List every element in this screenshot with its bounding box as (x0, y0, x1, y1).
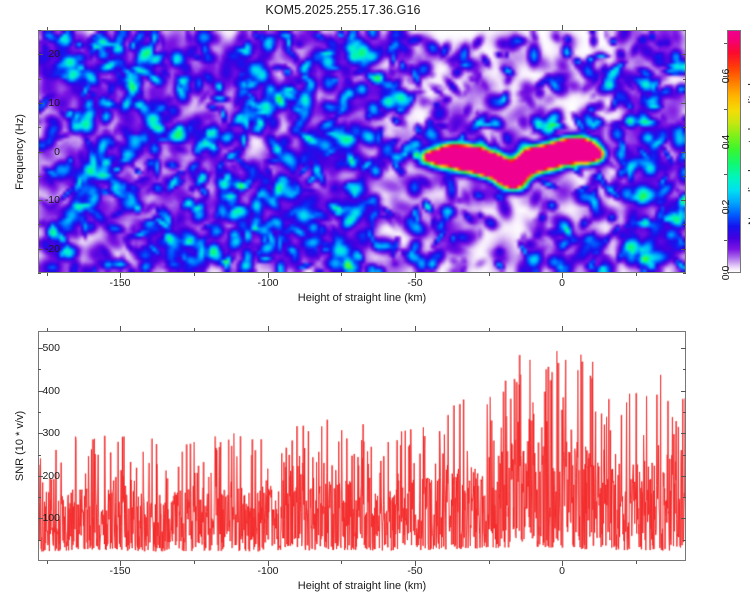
colorbar-tick-minor (724, 43, 727, 44)
spectrogram-image (39, 31, 685, 272)
y-tick-minor-right (683, 369, 686, 370)
spectrogram-plot-area (38, 30, 686, 273)
x-tick-minor-top (47, 328, 48, 331)
x-tick-label: 0 (559, 565, 565, 577)
y-tick-label: 20 (30, 48, 60, 60)
y-tick-right (681, 433, 686, 434)
spectrogram-y-axis-title: Frequency (Hz) (14, 114, 26, 190)
x-tick-minor-top (489, 328, 490, 331)
y-tick-minor-right (683, 176, 686, 177)
colorbar-tick-label: 0.2 (720, 200, 732, 215)
y-tick-minor (38, 455, 41, 456)
y-tick-right (681, 152, 686, 153)
x-tick-minor (489, 273, 490, 276)
y-tick-minor (38, 412, 41, 413)
x-tick-minor-top (636, 328, 637, 331)
x-tick-minor (341, 561, 342, 564)
x-tick-minor (636, 561, 637, 564)
x-tick-minor (636, 273, 637, 276)
y-tick-minor-right (683, 224, 686, 225)
y-tick-minor (38, 369, 41, 370)
y-tick-minor-right (683, 30, 686, 31)
x-tick-label: -150 (109, 277, 130, 289)
y-tick-right (681, 249, 686, 250)
y-tick-right (681, 103, 686, 104)
y-tick-right (681, 476, 686, 477)
x-tick-minor-top (636, 27, 637, 30)
x-tick-minor (47, 273, 48, 276)
y-tick-minor-right (683, 79, 686, 80)
x-tick-minor (47, 561, 48, 564)
x-tick-label: -100 (257, 277, 278, 289)
x-tick-top (415, 25, 416, 30)
x-tick-label: -50 (407, 565, 422, 577)
figure-canvas: KOM5.2025.255.17.36.G16 -150-100-500-20-… (0, 0, 750, 600)
y-tick-right (681, 518, 686, 519)
snr-trace (39, 332, 685, 560)
y-tick-right (681, 54, 686, 55)
y-tick-label: -10 (30, 194, 60, 206)
x-tick-label: -50 (407, 277, 422, 289)
y-tick-label: 500 (30, 342, 60, 354)
snr-plot-area (38, 331, 686, 561)
x-tick-top (120, 326, 121, 331)
y-tick-minor-right (683, 273, 686, 274)
y-tick-minor-right (683, 127, 686, 128)
y-tick-minor (38, 224, 41, 225)
colorbar-tick-label: 0.0 (720, 266, 732, 281)
x-tick-label: -100 (257, 565, 278, 577)
colorbar-gradient (727, 30, 741, 273)
y-tick-label: -20 (30, 243, 60, 255)
x-tick-minor-top (341, 328, 342, 331)
y-tick-label: 100 (30, 512, 60, 524)
colorbar-tick-minor (724, 240, 727, 241)
x-tick-top (562, 25, 563, 30)
x-tick-top (562, 326, 563, 331)
y-tick-minor (38, 273, 41, 274)
spectrogram-x-axis-title: Height of straight line (km) (298, 292, 426, 304)
y-tick-right (681, 348, 686, 349)
y-tick-label: 0 (30, 146, 60, 158)
colorbar-tick-label: 0.4 (720, 135, 732, 150)
colorbar-tick-label: 0.6 (720, 69, 732, 84)
y-tick-minor (38, 30, 41, 31)
y-tick-minor (38, 497, 41, 498)
y-tick-label: 10 (30, 97, 60, 109)
y-tick-minor (38, 127, 41, 128)
x-tick-minor (489, 561, 490, 564)
y-tick-label: 400 (30, 385, 60, 397)
figure-title: KOM5.2025.255.17.36.G16 (0, 3, 686, 17)
y-tick-right (681, 391, 686, 392)
y-tick-minor (38, 176, 41, 177)
snr-x-axis-title: Height of straight line (km) (298, 580, 426, 592)
y-tick-right (681, 200, 686, 201)
snr-y-axis-title: SNR (10 * v/v) (14, 411, 26, 481)
y-tick-label: 300 (30, 427, 60, 439)
y-tick-minor-right (683, 412, 686, 413)
y-tick-label: 200 (30, 470, 60, 482)
y-tick-minor-right (683, 455, 686, 456)
x-tick-top (268, 326, 269, 331)
x-tick-minor-top (47, 27, 48, 30)
x-tick-top (120, 25, 121, 30)
x-tick-minor (341, 273, 342, 276)
x-tick-label: -150 (109, 565, 130, 577)
colorbar-tick-minor (724, 174, 727, 175)
x-tick-top (415, 326, 416, 331)
x-tick-minor-top (489, 27, 490, 30)
x-tick-minor-top (194, 328, 195, 331)
colorbar (727, 30, 741, 273)
x-tick-top (268, 25, 269, 30)
x-tick-minor-top (194, 27, 195, 30)
y-tick-minor-right (683, 497, 686, 498)
y-tick-minor (38, 540, 41, 541)
x-tick-minor (194, 561, 195, 564)
colorbar-tick-minor (724, 109, 727, 110)
x-tick-minor (194, 273, 195, 276)
x-tick-minor-top (341, 27, 342, 30)
y-tick-minor-right (683, 540, 686, 541)
x-tick-label: 0 (559, 277, 565, 289)
y-tick-minor (38, 79, 41, 80)
